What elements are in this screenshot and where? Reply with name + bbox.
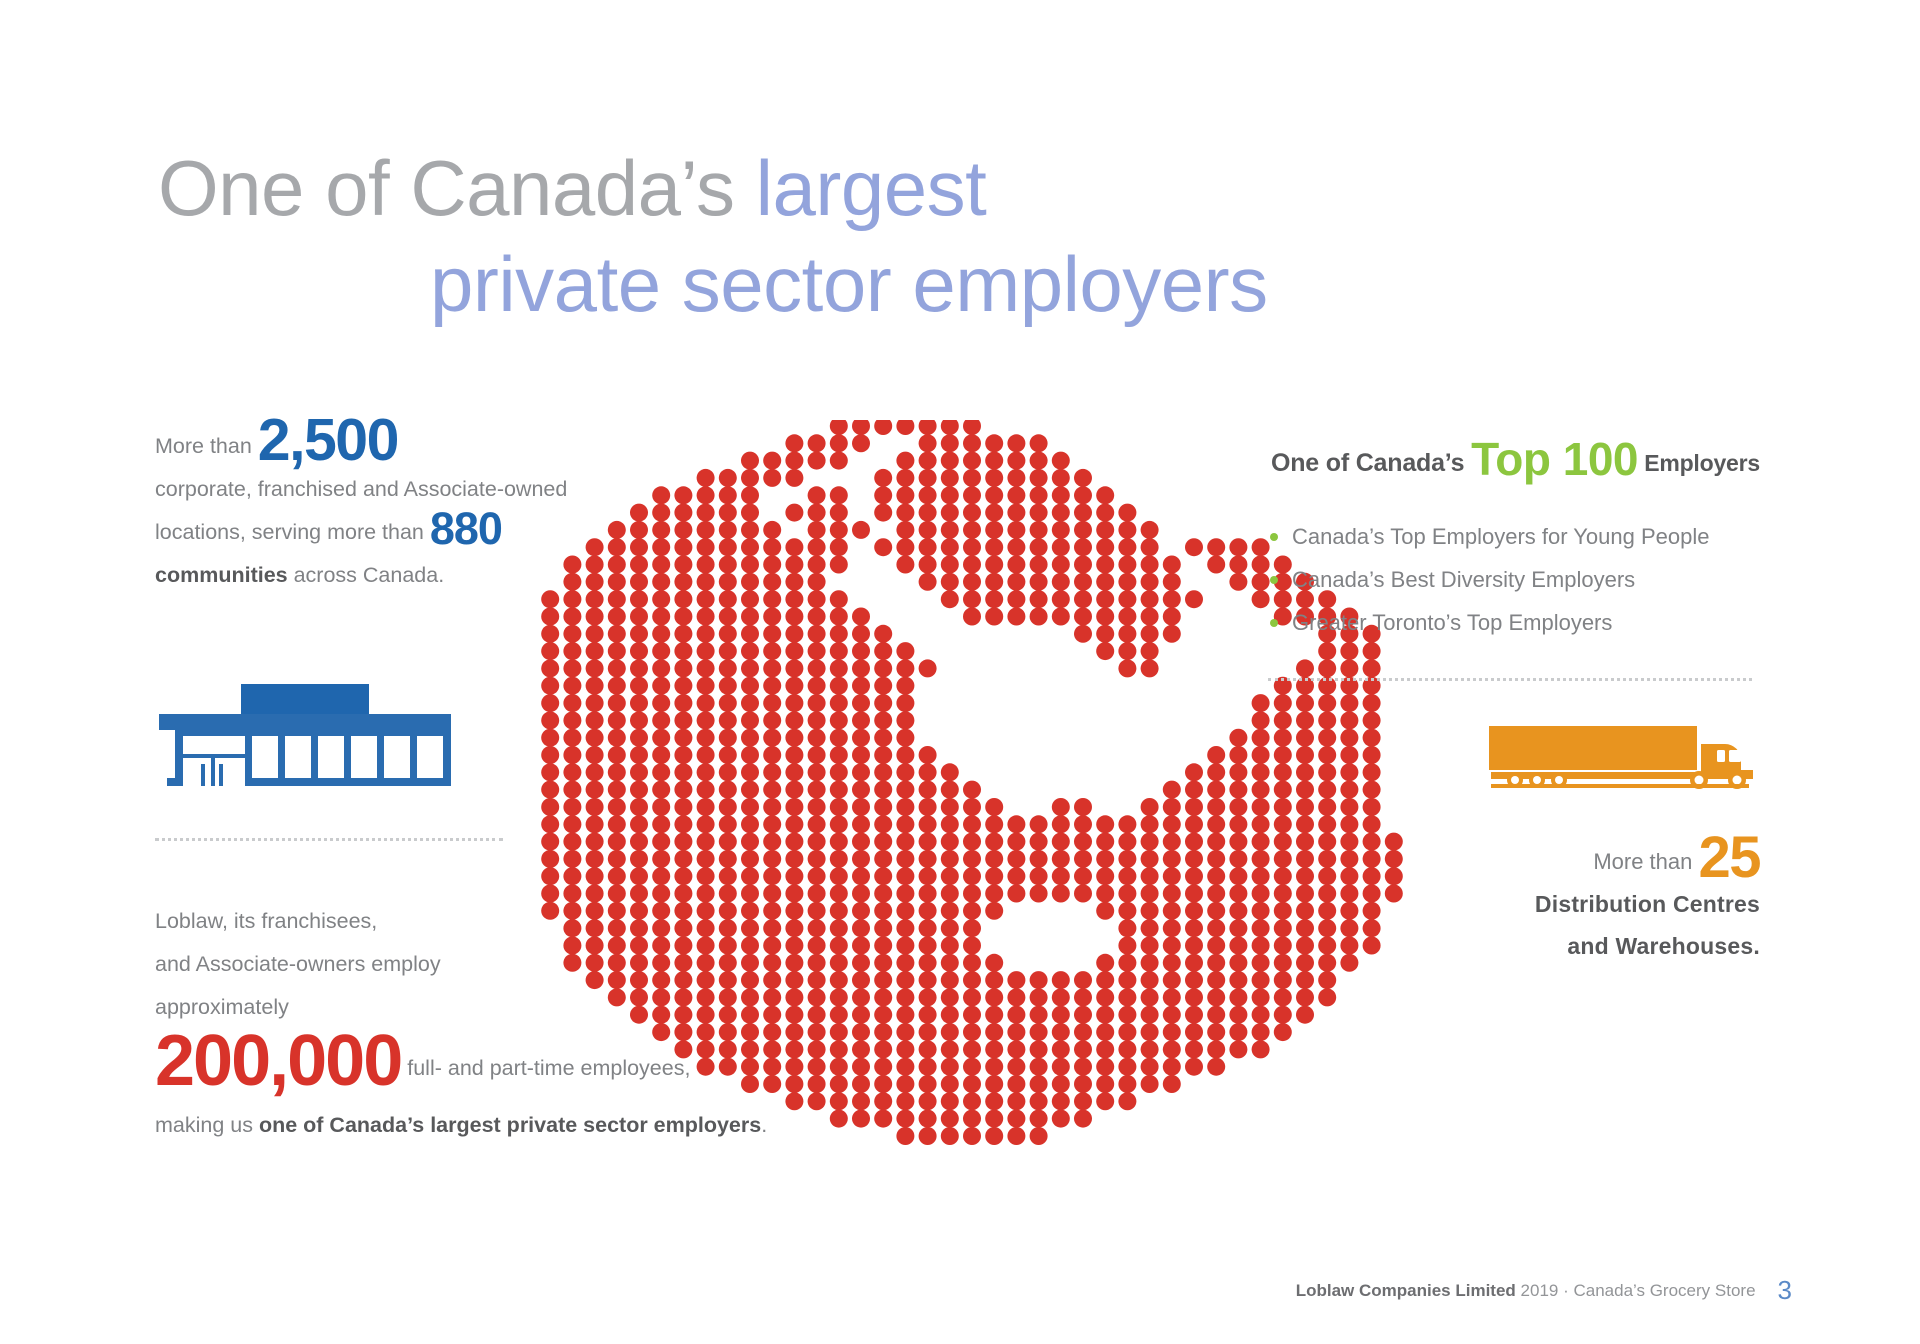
footer-year: 2019 [1516, 1281, 1559, 1300]
dc-line-2: Distribution Centres [1300, 883, 1760, 925]
locations-line-3-prefix: locations, serving more than [155, 520, 430, 544]
list-item: Canada’s Best Diversity Employers [1270, 558, 1709, 601]
locations-number: 2,500 [258, 407, 398, 473]
divider-left [155, 838, 503, 841]
distribution-centres-block: More than 25 Distribution Centres and Wa… [1300, 840, 1760, 967]
title-part-blue: largest [756, 144, 987, 232]
list-item: Canada’s Top Employers for Young People [1270, 515, 1709, 558]
bullet-icon [1270, 619, 1278, 627]
page-number: 3 [1778, 1275, 1792, 1305]
communities-suffix: across Canada. [288, 563, 445, 587]
dc-line-3: and Warehouses. [1300, 925, 1760, 967]
employees-number: 200,000 [155, 1021, 401, 1101]
divider-right [1268, 678, 1752, 681]
top-employers-suffix: Employers [1638, 450, 1760, 476]
page-title: One of Canada’s largest private sector e… [150, 140, 1790, 332]
awards-list: Canada’s Top Employers for Young People … [1270, 515, 1709, 644]
award-label: Canada’s Top Employers for Young People [1292, 524, 1709, 549]
delivery-truck-icon [1489, 722, 1755, 792]
locations-prefix: More than [155, 434, 258, 458]
footer-tagline: Canada’s Grocery Store [1573, 1281, 1755, 1300]
footer-separator: · [1558, 1281, 1573, 1300]
list-item: Greater Toronto’s Top Employers [1270, 601, 1709, 644]
footer-company: Loblaw Companies Limited [1296, 1281, 1516, 1300]
top-employers-prefix: One of Canada’s [1271, 449, 1471, 477]
footer: Loblaw Companies Limited 2019 · Canada’s… [0, 1275, 1920, 1306]
bullet-icon [1270, 533, 1278, 541]
award-label: Canada’s Best Diversity Employers [1292, 567, 1635, 592]
title-part-gray: One of Canada’s [158, 144, 756, 232]
award-label: Greater Toronto’s Top Employers [1292, 610, 1612, 635]
title-line-two: private sector employers [430, 240, 1268, 328]
employees-closing-prefix: making us [155, 1113, 259, 1137]
dc-number: 25 [1698, 825, 1760, 890]
dc-prefix: More than [1593, 849, 1698, 874]
communities-number: 880 [430, 503, 502, 554]
storefront-icon [155, 680, 455, 790]
top-employers-heading: One of Canada’s Top 100 Employers [1140, 432, 1760, 486]
top-employers-highlight: Top 100 [1471, 433, 1638, 485]
slide-canvas: One of Canada’s largest private sector e… [0, 0, 1920, 1344]
bullet-icon [1270, 576, 1278, 584]
communities-label: communities [155, 563, 288, 587]
